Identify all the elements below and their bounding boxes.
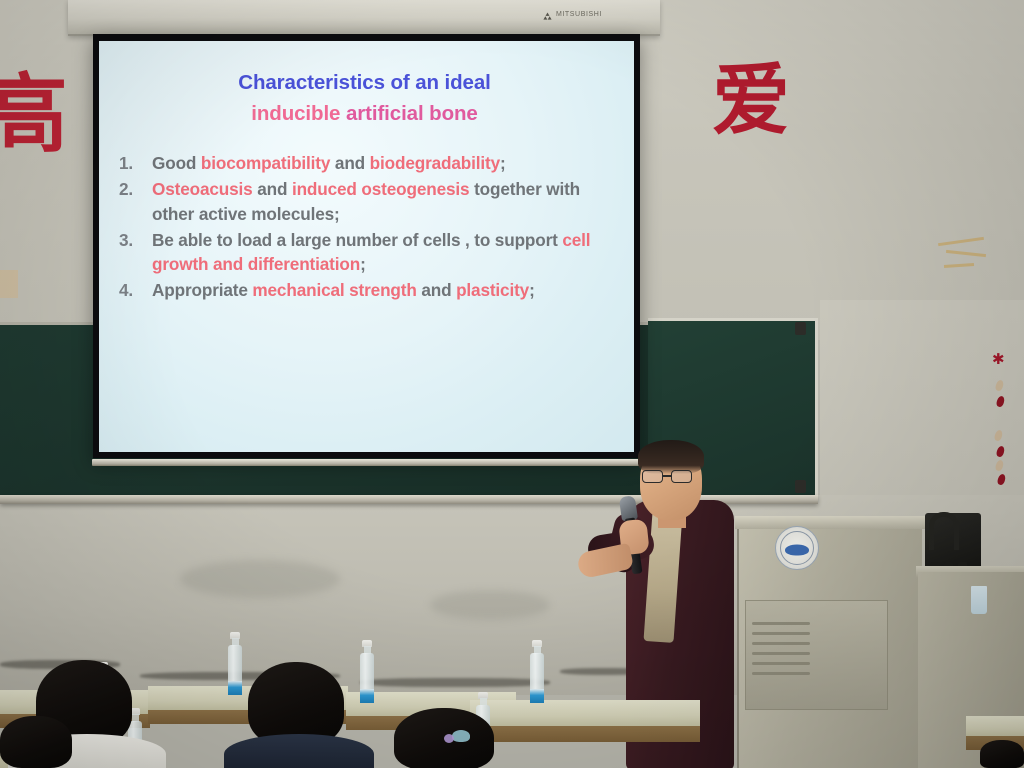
decor-dot <box>994 379 1004 392</box>
wall-calligraphy-right: 爱 <box>712 62 790 140</box>
glasses-lens-right <box>671 470 692 483</box>
glasses-lens-left <box>642 470 663 483</box>
seg: Appropriate <box>152 280 252 300</box>
glasses-icon <box>642 470 698 483</box>
equipment-handle <box>929 512 959 550</box>
bottle-label <box>530 689 544 703</box>
decor-dot <box>995 395 1005 408</box>
list-item-number: 4. <box>119 278 133 303</box>
bottle-body <box>360 653 374 701</box>
wall-stain <box>430 590 550 620</box>
seg: ; <box>500 153 506 173</box>
slide-bullet-list: 1.Good biocompatibility and biodegradabi… <box>109 151 620 303</box>
projector-brand-label: MITSUBISHI <box>556 11 602 18</box>
projector-screen-housing: MITSUBISHI <box>68 0 660 36</box>
slide-list-item: 4.Appropriate mechanical strength and pl… <box>117 278 616 303</box>
decor-dot <box>993 429 1003 442</box>
decor-dot <box>995 445 1005 458</box>
student-desk <box>966 716 1024 738</box>
seg: and <box>417 280 456 300</box>
wall-crack <box>360 678 550 687</box>
slide-title-line2-part1: inducible <box>251 102 346 125</box>
slide-title-line2-part2: artificial bone <box>346 102 478 125</box>
lecture-hall-scene: 爱 高 ✱ MITSUBISHI Characteristics of an i… <box>0 0 1024 768</box>
seg-highlight: induced osteogenesis <box>292 179 470 199</box>
seg: ; <box>529 280 535 300</box>
desk-front-panel <box>470 726 700 742</box>
decor-dot <box>994 459 1004 472</box>
seg-highlight: plasticity <box>456 280 529 300</box>
seg-highlight: biocompatibility <box>201 153 330 173</box>
slide-title: Characteristics of an ideal inducible ar… <box>109 67 620 129</box>
university-crest-emblem <box>775 526 819 570</box>
bottle-body <box>228 645 242 693</box>
seg-highlight: biodegradability <box>370 153 500 173</box>
seg: and <box>253 179 292 199</box>
projection-screen: Characteristics of an ideal inducible ar… <box>93 34 640 458</box>
student-head <box>980 740 1024 768</box>
wall-tape-mark <box>0 270 18 298</box>
board-clip <box>795 322 806 335</box>
bottle-label <box>228 681 242 695</box>
mitsubishi-diamond-icon <box>543 12 552 20</box>
seg-highlight: Osteoacusis <box>152 179 253 199</box>
seg: and <box>330 153 369 173</box>
audience-hand <box>1003 648 1024 700</box>
seg: ; <box>360 254 366 274</box>
student-shoulders <box>224 734 374 768</box>
seg-highlight: mechanical strength <box>252 280 416 300</box>
student-head <box>0 716 72 768</box>
glasses-bridge <box>663 475 671 477</box>
wall-stain <box>180 560 340 598</box>
presentation-slide: Characteristics of an ideal inducible ar… <box>99 41 634 452</box>
paper-cup <box>971 586 987 614</box>
list-item-number: 2. <box>119 177 133 202</box>
seg: Good <box>152 153 201 173</box>
seg: Be able to load a large number of cells … <box>152 230 562 250</box>
bottle-label <box>360 689 374 703</box>
list-item-number: 3. <box>119 228 133 253</box>
screen-surface: Characteristics of an ideal inducible ar… <box>99 41 634 452</box>
list-item-number: 1. <box>119 151 133 176</box>
student-desk <box>470 700 700 728</box>
presenter-hair <box>638 440 704 474</box>
star-icon: ✱ <box>992 352 1005 367</box>
hair-clip-accent <box>444 734 454 743</box>
screen-weight-bar <box>92 459 641 466</box>
bottle-body <box>530 653 544 701</box>
slide-list-item: 2. Osteoacusis and induced osteogenesis … <box>117 177 616 227</box>
slide-title-line1: Characteristics of an ideal <box>109 67 620 98</box>
wall-dot-decoration: ✱ <box>992 352 1016 472</box>
board-clip <box>795 480 806 493</box>
wall-calligraphy-left: 高 <box>0 72 68 158</box>
slide-list-item: 1.Good biocompatibility and biodegradabi… <box>117 151 616 176</box>
slide-list-item: 3.Be able to load a large number of cell… <box>117 228 616 278</box>
emblem-center-icon <box>785 544 809 555</box>
slide-title-line2: inducible artificial bone <box>109 98 620 129</box>
hair-clip <box>452 730 470 742</box>
